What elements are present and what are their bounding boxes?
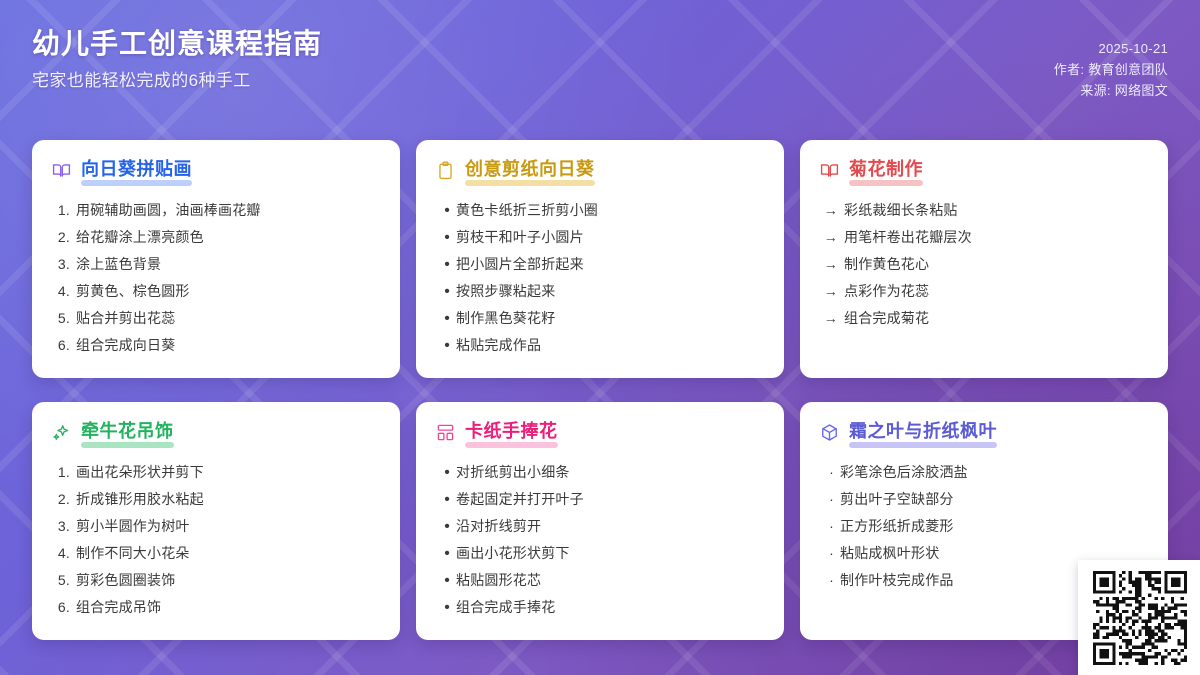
card-step-list: 1.画出花朵形状并剪下2.折成锥形用胶水粘起3.剪小半圆作为树叶4.制作不同大小…	[52, 459, 380, 621]
meta-source: 来源: 网络图文	[1080, 80, 1168, 101]
list-item: 4.制作不同大小花朵	[52, 540, 380, 567]
list-item-marker: 5.	[52, 305, 70, 332]
list-item: 3.涂上蓝色背景	[52, 251, 380, 278]
list-item-text: 点彩作为花蕊	[844, 278, 1148, 305]
list-item: →制作黄色花心	[820, 251, 1148, 278]
list-item-text: 画出花朵形状并剪下	[76, 459, 380, 486]
list-item-text: 沿对折线剪开	[456, 513, 764, 540]
craft-card[interactable]: 卡纸手捧花•对折纸剪出小细条•卷起固定并打开叶子•沿对折线剪开•画出小花形状剪下…	[416, 402, 784, 640]
craft-card[interactable]: 向日葵拼贴画1.用碗辅助画圆，油画棒画花瓣2.给花瓣涂上漂亮颜色3.涂上蓝色背景…	[32, 140, 400, 378]
list-item-text: 剪彩色圆圈装饰	[76, 567, 380, 594]
list-item: •剪枝干和叶子小圆片	[436, 224, 764, 251]
list-item-text: 剪小半圆作为树叶	[76, 513, 380, 540]
list-item-text: 用碗辅助画圆，油画棒画花瓣	[76, 197, 380, 224]
list-item: →点彩作为花蕊	[820, 278, 1148, 305]
list-item-marker: •	[436, 278, 450, 305]
card-header: 菊花制作	[820, 158, 1148, 183]
list-item-marker: •	[436, 305, 450, 332]
list-item-marker: •	[436, 197, 450, 224]
list-item-marker: ·	[820, 540, 834, 567]
qr-code-icon	[1090, 571, 1190, 665]
list-item-marker: •	[436, 486, 450, 513]
list-item: ·彩笔涂色后涂胶洒盐	[820, 459, 1148, 486]
list-item-text: 剪枝干和叶子小圆片	[456, 224, 764, 251]
list-item: •粘贴完成作品	[436, 332, 764, 359]
list-item-marker: 1.	[52, 459, 70, 486]
list-item-text: 涂上蓝色背景	[76, 251, 380, 278]
list-item-marker: •	[436, 540, 450, 567]
list-item-marker: •	[436, 567, 450, 594]
list-item-text: 粘贴完成作品	[456, 332, 764, 359]
cube-icon	[820, 423, 839, 442]
list-item: •组合完成手捧花	[436, 594, 764, 621]
poster-header: 幼儿手工创意课程指南 宅家也能轻松完成的6种手工 2025-10-21 作者: …	[0, 0, 1200, 128]
list-item-marker: 1.	[52, 197, 70, 224]
list-item-text: 制作黄色花心	[844, 251, 1148, 278]
list-item-text: 正方形纸折成菱形	[840, 513, 1148, 540]
list-item: →用笔杆卷出花瓣层次	[820, 224, 1148, 251]
list-item-marker: ·	[820, 459, 834, 486]
list-item-text: 组合完成菊花	[844, 305, 1148, 332]
sparkles-icon	[52, 423, 71, 442]
list-item-text: 给花瓣涂上漂亮颜色	[76, 224, 380, 251]
card-header: 霜之叶与折纸枫叶	[820, 420, 1148, 445]
list-item: •对折纸剪出小细条	[436, 459, 764, 486]
list-item: 5.贴合并剪出花蕊	[52, 305, 380, 332]
list-item-text: 组合完成手捧花	[456, 594, 764, 621]
list-item-text: 剪出叶子空缺部分	[840, 486, 1148, 513]
card-title: 霜之叶与折纸枫叶	[849, 420, 997, 445]
list-item-text: 黄色卡纸折三折剪小圈	[456, 197, 764, 224]
list-item: 6.组合完成向日葵	[52, 332, 380, 359]
list-item-text: 贴合并剪出花蕊	[76, 305, 380, 332]
card-step-list: →彩纸裁细长条粘贴→用笔杆卷出花瓣层次→制作黄色花心→点彩作为花蕊→组合完成菊花	[820, 197, 1148, 332]
list-item: •黄色卡纸折三折剪小圈	[436, 197, 764, 224]
list-item: •粘贴圆形花芯	[436, 567, 764, 594]
list-item: 4.剪黄色、棕色圆形	[52, 278, 380, 305]
list-item-text: 卷起固定并打开叶子	[456, 486, 764, 513]
list-item-text: 把小圆片全部折起来	[456, 251, 764, 278]
list-item-marker: •	[436, 251, 450, 278]
card-title: 向日葵拼贴画	[81, 158, 192, 183]
list-item-text: 彩笔涂色后涂胶洒盐	[840, 459, 1148, 486]
card-header: 向日葵拼贴画	[52, 158, 380, 183]
list-item-marker: 4.	[52, 540, 70, 567]
page-title: 幼儿手工创意课程指南	[32, 26, 322, 62]
list-item: •按照步骤粘起来	[436, 278, 764, 305]
list-item: 5.剪彩色圆圈装饰	[52, 567, 380, 594]
card-title: 菊花制作	[849, 158, 923, 183]
card-step-list: •对折纸剪出小细条•卷起固定并打开叶子•沿对折线剪开•画出小花形状剪下•粘贴圆形…	[436, 459, 764, 621]
header-left: 幼儿手工创意课程指南 宅家也能轻松完成的6种手工	[32, 26, 322, 94]
list-item-text: 对折纸剪出小细条	[456, 459, 764, 486]
list-item-marker: 2.	[52, 224, 70, 251]
craft-card[interactable]: 创意剪纸向日葵•黄色卡纸折三折剪小圈•剪枝干和叶子小圆片•把小圆片全部折起来•按…	[416, 140, 784, 378]
list-item-marker: →	[820, 305, 838, 332]
list-item-marker: 6.	[52, 594, 70, 621]
craft-card[interactable]: 牵牛花吊饰1.画出花朵形状并剪下2.折成锥形用胶水粘起3.剪小半圆作为树叶4.制…	[32, 402, 400, 640]
list-item-marker: 3.	[52, 251, 70, 278]
header-meta: 2025-10-21 作者: 教育创意团队 来源: 网络图文	[1054, 38, 1168, 101]
list-item: 1.用碗辅助画圆，油画棒画花瓣	[52, 197, 380, 224]
open-book-icon	[52, 161, 71, 180]
list-item-marker: →	[820, 251, 838, 278]
card-title: 创意剪纸向日葵	[465, 158, 595, 183]
list-item-text: 按照步骤粘起来	[456, 278, 764, 305]
list-item-text: 粘贴圆形花芯	[456, 567, 764, 594]
list-item-marker: ·	[820, 486, 834, 513]
list-item: 2.给花瓣涂上漂亮颜色	[52, 224, 380, 251]
list-item: →组合完成菊花	[820, 305, 1148, 332]
qr-code-panel[interactable]	[1078, 560, 1200, 675]
list-item-text: 制作不同大小花朵	[76, 540, 380, 567]
layout-dashboard-icon	[436, 423, 455, 442]
card-step-list: •黄色卡纸折三折剪小圈•剪枝干和叶子小圆片•把小圆片全部折起来•按照步骤粘起来•…	[436, 197, 764, 359]
list-item-marker: →	[820, 197, 838, 224]
poster-root: 幼儿手工创意课程指南 宅家也能轻松完成的6种手工 2025-10-21 作者: …	[0, 0, 1200, 675]
list-item-marker: •	[436, 332, 450, 359]
list-item: 2.折成锥形用胶水粘起	[52, 486, 380, 513]
list-item-text: 彩纸裁细长条粘贴	[844, 197, 1148, 224]
list-item: •画出小花形状剪下	[436, 540, 764, 567]
list-item-text: 剪黄色、棕色圆形	[76, 278, 380, 305]
list-item-marker: •	[436, 513, 450, 540]
list-item-marker: •	[436, 224, 450, 251]
list-item-marker: •	[436, 459, 450, 486]
card-title: 卡纸手捧花	[465, 420, 558, 445]
list-item-marker: ·	[820, 567, 834, 594]
list-item-text: 制作黑色葵花籽	[456, 305, 764, 332]
meta-date: 2025-10-21	[1099, 38, 1169, 59]
list-item-marker: 2.	[52, 486, 70, 513]
list-item: 1.画出花朵形状并剪下	[52, 459, 380, 486]
open-book-icon	[820, 161, 839, 180]
list-item-marker: 6.	[52, 332, 70, 359]
list-item-marker: ·	[820, 513, 834, 540]
list-item-marker: 3.	[52, 513, 70, 540]
card-header: 卡纸手捧花	[436, 420, 764, 445]
list-item: ·剪出叶子空缺部分	[820, 486, 1148, 513]
list-item: •沿对折线剪开	[436, 513, 764, 540]
list-item-marker: →	[820, 224, 838, 251]
list-item-text: 用笔杆卷出花瓣层次	[844, 224, 1148, 251]
list-item-text: 画出小花形状剪下	[456, 540, 764, 567]
craft-card[interactable]: 菊花制作→彩纸裁细长条粘贴→用笔杆卷出花瓣层次→制作黄色花心→点彩作为花蕊→组合…	[800, 140, 1168, 378]
list-item-text: 折成锥形用胶水粘起	[76, 486, 380, 513]
card-header: 牵牛花吊饰	[52, 420, 380, 445]
card-step-list: 1.用碗辅助画圆，油画棒画花瓣2.给花瓣涂上漂亮颜色3.涂上蓝色背景4.剪黄色、…	[52, 197, 380, 359]
list-item-marker: →	[820, 278, 838, 305]
list-item-marker: 4.	[52, 278, 70, 305]
card-header: 创意剪纸向日葵	[436, 158, 764, 183]
list-item-text: 组合完成吊饰	[76, 594, 380, 621]
list-item: •把小圆片全部折起来	[436, 251, 764, 278]
list-item-marker: •	[436, 594, 450, 621]
meta-author: 作者: 教育创意团队	[1054, 59, 1168, 80]
list-item: →彩纸裁细长条粘贴	[820, 197, 1148, 224]
list-item: 6.组合完成吊饰	[52, 594, 380, 621]
card-title: 牵牛花吊饰	[81, 420, 174, 445]
clipboard-icon	[436, 161, 455, 180]
list-item: •制作黑色葵花籽	[436, 305, 764, 332]
list-item: ·正方形纸折成菱形	[820, 513, 1148, 540]
list-item-marker: 5.	[52, 567, 70, 594]
page-subtitle: 宅家也能轻松完成的6种手工	[32, 68, 322, 94]
list-item: 3.剪小半圆作为树叶	[52, 513, 380, 540]
list-item: •卷起固定并打开叶子	[436, 486, 764, 513]
card-grid: 向日葵拼贴画1.用碗辅助画圆，油画棒画花瓣2.给花瓣涂上漂亮颜色3.涂上蓝色背景…	[32, 140, 1168, 640]
list-item-text: 组合完成向日葵	[76, 332, 380, 359]
